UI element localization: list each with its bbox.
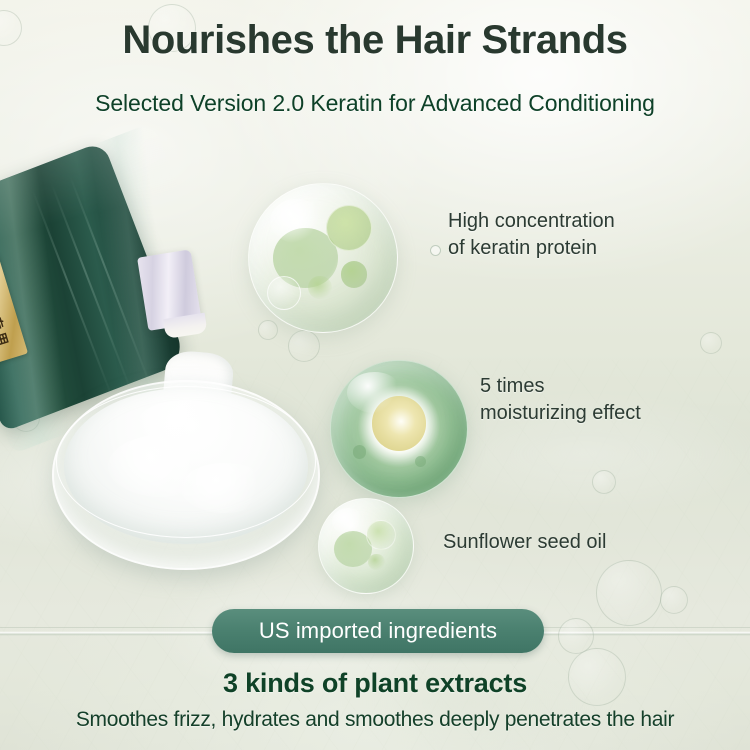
- decorative-bubble-icon: [288, 330, 320, 362]
- callout-sunflower: Sunflower seed oil: [443, 529, 606, 556]
- gel-inner-bubble: [353, 445, 367, 459]
- decorative-bubble-icon: [700, 332, 722, 354]
- plant-extracts-tagline: 3 kinds of plant extracts: [0, 668, 750, 699]
- us-imported-badge-label: US imported ingredients: [259, 618, 497, 644]
- gel-inner-bubble: [415, 456, 426, 467]
- callout-marker-icon: [430, 245, 441, 256]
- gel-inner-blob: [366, 520, 396, 550]
- gel-highlight: [270, 199, 323, 243]
- dish-rim: [56, 386, 316, 538]
- benefits-description: Smoothes frizz, hydrates and smoothes de…: [0, 708, 750, 732]
- gel-highlight: [332, 508, 364, 534]
- petri-dish: [52, 380, 320, 570]
- gel-bubble-moisture: [330, 360, 468, 498]
- callout-keratin: High concentration of keratin protein: [448, 208, 615, 262]
- gel-bubble-keratin: [248, 183, 398, 333]
- gel-inner-blob: [368, 554, 385, 571]
- gel-highlight: [347, 372, 401, 413]
- decorative-bubble-icon: [592, 470, 616, 494]
- gel-inner-blob: [267, 276, 302, 311]
- product-marketing-poster: Nourishes the Hair Strands Selected Vers…: [0, 0, 750, 750]
- gel-bubble-sunflower: [318, 498, 414, 594]
- decorative-bubble-icon: [258, 320, 278, 340]
- page-subtitle: Selected Version 2.0 Keratin for Advance…: [0, 90, 750, 117]
- us-imported-badge: US imported ingredients: [212, 609, 544, 653]
- decorative-bubble-icon: [596, 560, 662, 626]
- callout-moisture: 5 times moisturizing effect: [480, 373, 641, 427]
- gel-inner-blob: [341, 261, 368, 288]
- decorative-bubble-icon: [660, 586, 688, 614]
- gel-inner-blob: [308, 276, 332, 300]
- page-title: Nourishes the Hair Strands: [0, 18, 750, 63]
- gel-inner-blob: [326, 205, 372, 251]
